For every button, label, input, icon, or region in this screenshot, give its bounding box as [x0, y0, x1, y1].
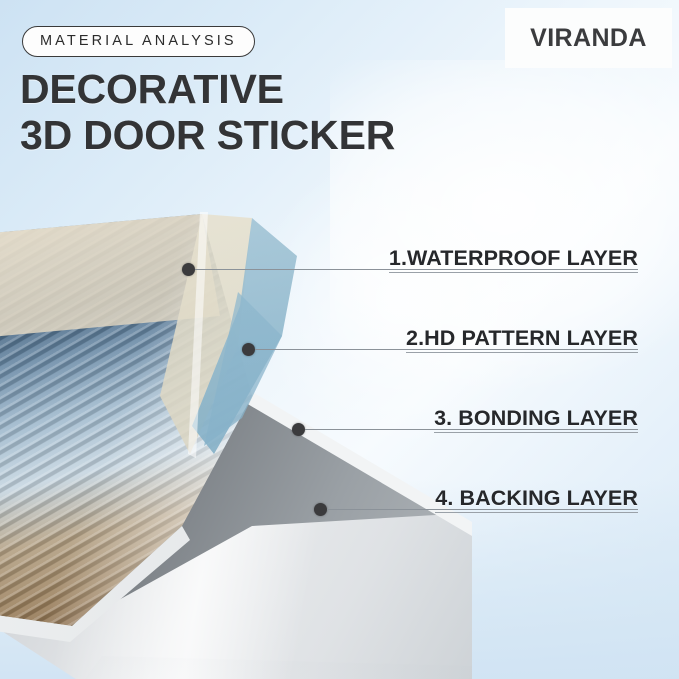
page-title-line-2: 3D DOOR STICKER: [20, 112, 460, 158]
callout-underline-4: [435, 512, 638, 513]
callout-dot-1: [182, 263, 195, 276]
infographic-canvas: MATERIAL ANALYSIS DECORATIVE 3D DOOR STI…: [0, 0, 679, 679]
material-analysis-badge: MATERIAL ANALYSIS: [22, 26, 255, 57]
callout-dot-3: [292, 423, 305, 436]
page-title: DECORATIVE 3D DOOR STICKER: [20, 66, 460, 158]
callout-label-2-text: 2.HD PATTERN LAYER: [406, 326, 638, 350]
brand-logo: VIRANDA: [505, 8, 672, 68]
callout-label-3-text: 3. BONDING LAYER: [434, 406, 638, 430]
material-analysis-badge-label: MATERIAL ANALYSIS: [40, 34, 237, 49]
callout-label-1: 1.WATERPROOF LAYER: [389, 246, 638, 273]
callout-label-4-text: 4. BACKING LAYER: [435, 486, 638, 510]
callout-label-2: 2.HD PATTERN LAYER: [406, 326, 638, 353]
callout-underline-2: [406, 352, 638, 353]
callout-dot-2: [242, 343, 255, 356]
callout-underline-3: [434, 432, 638, 433]
callout-dot-4: [314, 503, 327, 516]
callout-label-3: 3. BONDING LAYER: [434, 406, 638, 433]
callout-underline-1: [389, 272, 638, 273]
callout-label-1-text: 1.WATERPROOF LAYER: [389, 246, 638, 270]
brand-logo-label: VIRANDA: [530, 24, 647, 53]
callout-label-4: 4. BACKING LAYER: [435, 486, 638, 513]
page-title-line-1: DECORATIVE: [20, 66, 460, 112]
